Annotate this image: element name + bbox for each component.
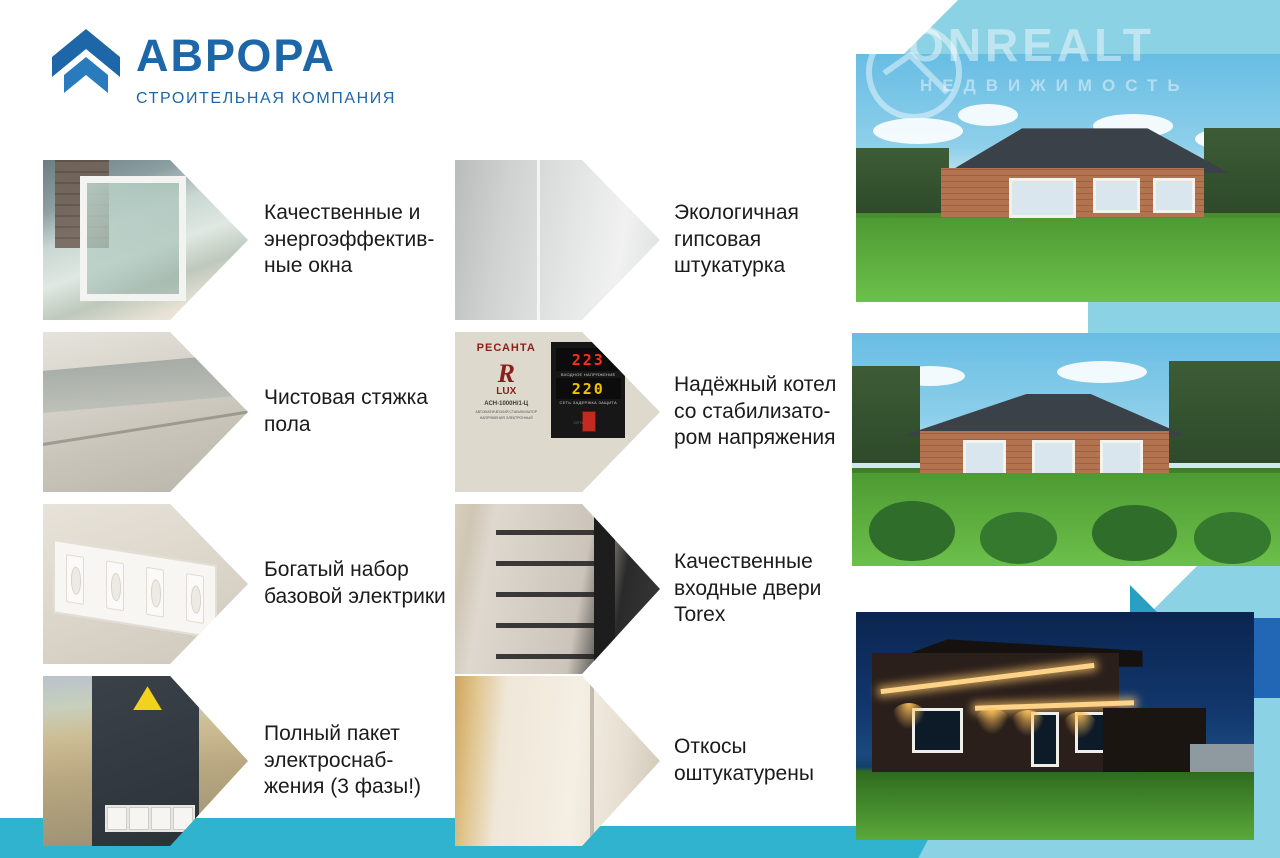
feature-label-plaster: Экологичная гипсовая штукатурка xyxy=(674,200,860,281)
stabilizer-output-display: 220 xyxy=(556,378,621,399)
feature-row-4: Полный пакет электроснаб-жения (3 фазы!)… xyxy=(0,676,860,848)
feature-item-screed: Чистовая стяжка пола xyxy=(43,332,453,492)
brand-logo: АВРОРА СТРОИТЕЛЬНАЯ КОМПАНИЯ xyxy=(50,27,396,108)
feature-label-electrics: Богатый набор базовой электрики xyxy=(264,557,453,611)
feature-label-doors: Качественные входные двери Torex xyxy=(674,549,860,630)
feature-grid: Качественные и энергоэффектив-ные окна Э… xyxy=(0,160,860,848)
feature-label-power: Полный пакет электроснаб-жения (3 фазы!) xyxy=(264,721,453,802)
photo-wall-sockets xyxy=(43,504,248,664)
feature-row-2: Чистовая стяжка пола РЕСАНТА R LUX АСН-1… xyxy=(0,332,860,504)
breaker-row xyxy=(105,805,195,832)
chevron-roof-logo-icon xyxy=(50,27,122,97)
feature-label-screed: Чистовая стяжка пола xyxy=(264,385,453,439)
photo-brick-house-daylight xyxy=(856,54,1280,302)
socket-plate xyxy=(53,539,217,639)
photo-gypsum-plaster-wall xyxy=(455,160,660,320)
socket-unit xyxy=(106,561,124,612)
feature-row-1: Качественные и энергоэффектив-ные окна Э… xyxy=(0,160,860,332)
socket-unit xyxy=(66,554,84,605)
photo-finished-floor-screed xyxy=(43,332,248,492)
stabilizer-brand: РЕСАНТА xyxy=(467,342,545,354)
feature-label-windows: Качественные и энергоэффектив-ные окна xyxy=(264,200,453,281)
feature-item-power: Полный пакет электроснаб-жения (3 фазы!) xyxy=(43,676,453,846)
photo-energy-efficient-window xyxy=(43,160,248,320)
photo-electrical-cabinet xyxy=(43,676,248,846)
feature-row-3: Богатый набор базовой электрики Качестве… xyxy=(0,504,860,676)
feature-item-boiler: РЕСАНТА R LUX АСН-1000Н/1-Ц АВТОМАТИЧЕСК… xyxy=(455,332,860,492)
stabilizer-switch-label: СЕТЬ xyxy=(573,420,610,425)
poster-page: АВРОРА СТРОИТЕЛЬНАЯ КОМПАНИЯ Качественны… xyxy=(0,0,1280,858)
feature-item-doors: Качественные входные двери Torex xyxy=(455,504,860,674)
photo-voltage-stabilizer: РЕСАНТА R LUX АСН-1000Н/1-Ц АВТОМАТИЧЕСК… xyxy=(455,332,660,492)
feature-label-boiler: Надёжный котел со стабилизато-ром напряж… xyxy=(674,372,860,453)
feature-item-slopes: Откосы оштукатурены xyxy=(455,676,860,846)
stabilizer-spec: АВТОМАТИЧЕСКИЙ СТАБИЛИЗАТОР НАПРЯЖЕНИЯ Э… xyxy=(467,410,545,421)
socket-unit xyxy=(146,567,164,618)
photo-entrance-door-torex xyxy=(455,504,660,674)
stabilizer-input-display: 223 xyxy=(556,348,621,371)
brand-name: АВРОРА xyxy=(136,33,396,78)
stabilizer-logo-icon: R xyxy=(482,359,531,389)
socket-unit xyxy=(186,573,204,624)
brand-tagline: СТРОИТЕЛЬНАЯ КОМПАНИЯ xyxy=(136,90,396,108)
feature-label-slopes: Откосы оштукатурены xyxy=(674,734,860,788)
feature-item-electrics: Богатый набор базовой электрики xyxy=(43,504,453,664)
photo-plastered-slopes xyxy=(455,676,660,846)
stabilizer-status-label: СЕТЬ ЗАДЕРЖКА ЗАЩИТА xyxy=(554,400,622,405)
stabilizer-input-label: ВХОДНОЕ НАПРЯЖЕНИЕ xyxy=(554,372,622,377)
photo-brick-house-garden xyxy=(852,333,1280,566)
feature-item-plaster: Экологичная гипсовая штукатурка xyxy=(455,160,860,320)
photo-house-night-lighting xyxy=(856,612,1254,840)
feature-item-windows: Качественные и энергоэффектив-ные окна xyxy=(43,160,453,320)
stabilizer-model: АСН-1000Н/1-Ц xyxy=(467,401,545,407)
stabilizer-panel: 223 ВХОДНОЕ НАПРЯЖЕНИЕ 220 СЕТЬ ЗАДЕРЖКА… xyxy=(551,342,625,438)
stabilizer-lux: LUX xyxy=(480,386,533,397)
